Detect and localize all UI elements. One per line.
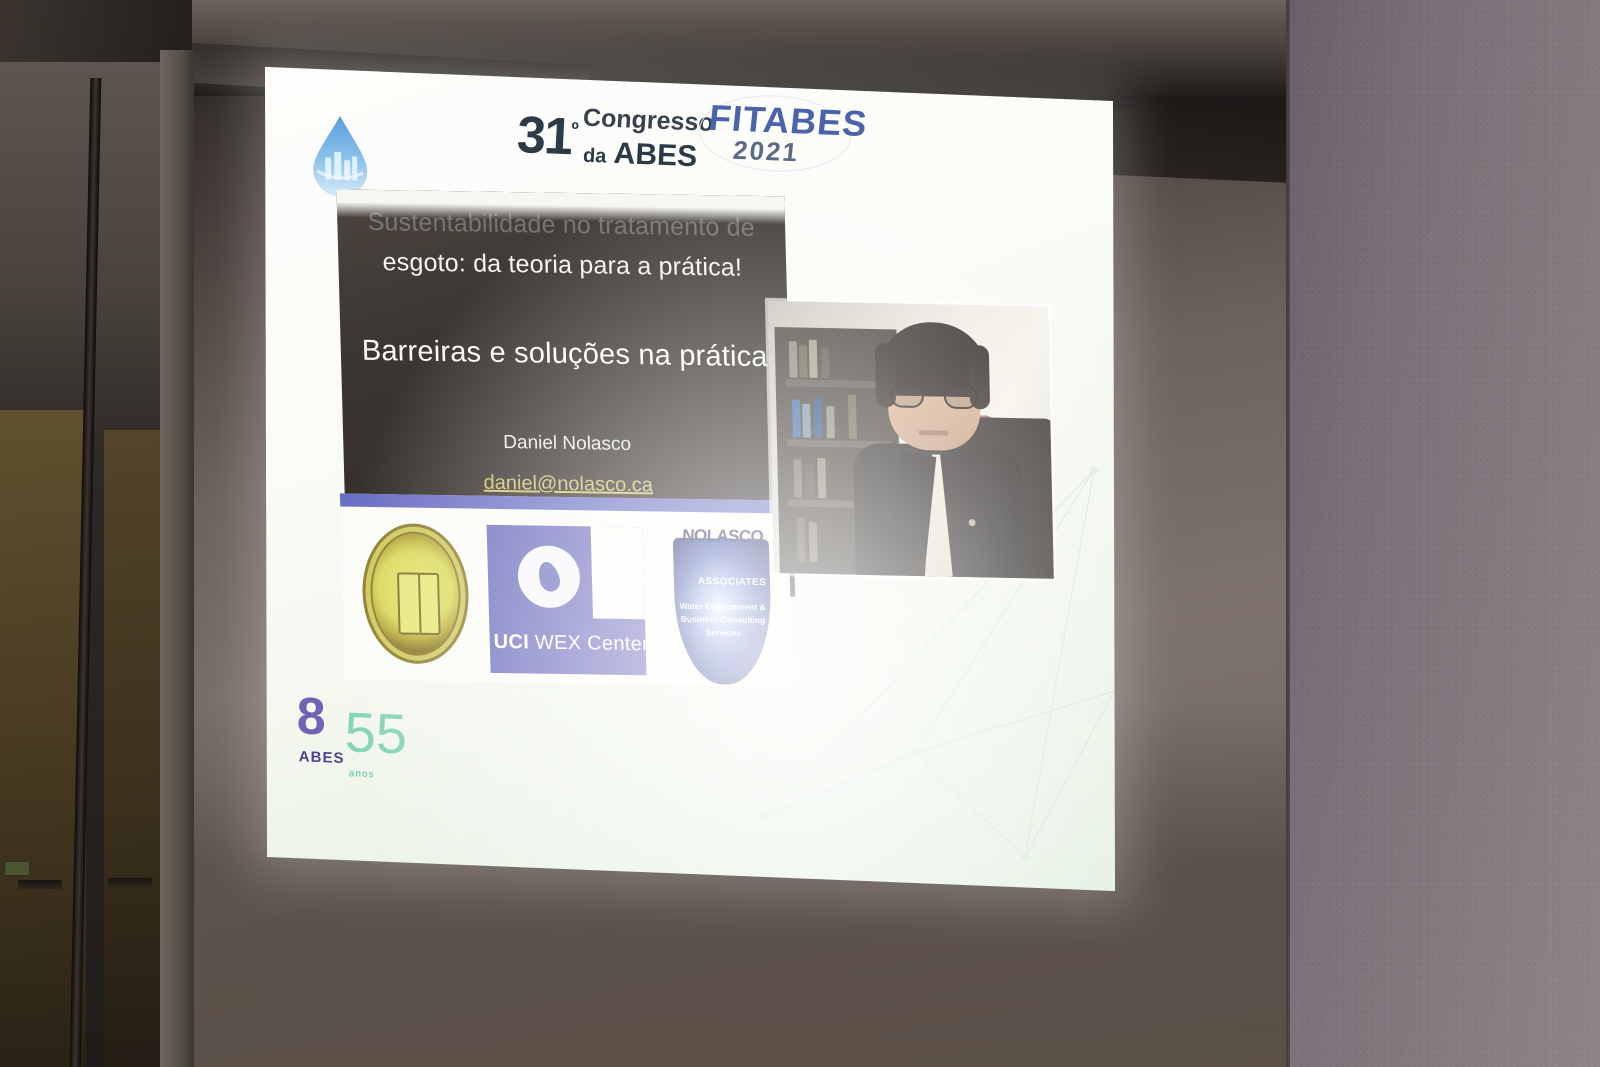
nolasco-word: NOLASCO — [672, 526, 773, 548]
book — [805, 464, 814, 498]
presenter-video-tile[interactable] — [768, 301, 1054, 579]
uc-seal-book — [397, 572, 441, 635]
fitabes-logo: FITABES 2021 — [695, 88, 865, 181]
presenter-name: Daniel Nolasco — [343, 430, 791, 459]
glasses-bridge — [924, 393, 944, 396]
uci-wex-text: UCI WEX Center — [493, 631, 654, 657]
door-handle-left[interactable] — [18, 880, 62, 889]
title-line-1: Sustentabilidade no tratamento de — [337, 207, 786, 243]
nolasco-associates: ASSOCIATES — [698, 576, 776, 588]
glasses-lens-right — [944, 385, 979, 410]
book — [817, 458, 826, 498]
congress-degree: º — [571, 119, 577, 141]
congress-da: da — [582, 145, 606, 168]
uci-wex-uci: UCI — [493, 631, 529, 654]
uc-seal-icon — [361, 523, 471, 665]
book — [826, 406, 835, 438]
slide-logo-strip: UCI WEX Center NOLASCO ASSOCIATES Water … — [340, 493, 793, 686]
presenter-mouth — [919, 430, 949, 436]
book — [814, 398, 823, 438]
fitabes-year: 2021 — [732, 135, 801, 169]
door-frame — [160, 50, 194, 1067]
exit-sign — [4, 861, 30, 876]
door-handle-right[interactable] — [108, 878, 152, 887]
nolasco-logo: NOLASCO ASSOCIATES Water Environment & B… — [666, 520, 779, 687]
uci-wex-drop-shape — [535, 560, 562, 594]
book — [799, 346, 808, 378]
book — [792, 399, 801, 437]
sponsor-wall: A AGÊNCIA NACIONAL DE ÁGUAS E SANEAMENTO… — [1290, 0, 1600, 1067]
nolasco-subtitle: Water Environment & Business Consulting … — [676, 600, 769, 641]
conference-room-scene: A AGÊNCIA NACIONAL DE ÁGUAS E SANEAMENTO… — [0, 0, 1600, 1067]
abes-55-b: 8 — [297, 690, 321, 743]
door-panel-right[interactable] — [104, 430, 166, 1067]
uci-wex-rest: WEX Center — [529, 631, 650, 655]
book — [802, 404, 811, 438]
abes-55-anos: anos — [349, 768, 375, 780]
abes-55-word: ABES — [299, 748, 345, 767]
title-line-3: Barreiras e soluções na prática — [340, 334, 789, 374]
wall-texture — [1290, 0, 1600, 1067]
glasses-lens-left — [890, 383, 925, 408]
congress-number-value: 31 — [516, 106, 573, 166]
presenter-lapel-pin — [969, 519, 976, 526]
book — [809, 340, 818, 378]
title-line-2: esgoto: da teoria para a prática! — [338, 247, 787, 283]
book — [809, 522, 818, 562]
congress-abes: ABES — [613, 137, 698, 173]
congress-number: 31º — [516, 109, 578, 163]
congress-waterdrop-icon — [309, 113, 371, 199]
book — [789, 341, 798, 377]
abes-55-logo: 8 55 ABES anos — [293, 686, 413, 791]
book — [793, 459, 802, 497]
projected-slide: 31º Congresso da ABES FITABES 2021 Suste… — [265, 67, 1115, 891]
uci-wex-notch — [591, 526, 645, 619]
book — [821, 348, 830, 378]
book — [797, 517, 806, 561]
presenter-glasses-icon — [890, 383, 979, 409]
shelf-row — [786, 379, 890, 388]
congress-org: da ABES — [582, 138, 697, 173]
abes-55-number: 55 — [345, 704, 407, 763]
book — [848, 395, 857, 439]
